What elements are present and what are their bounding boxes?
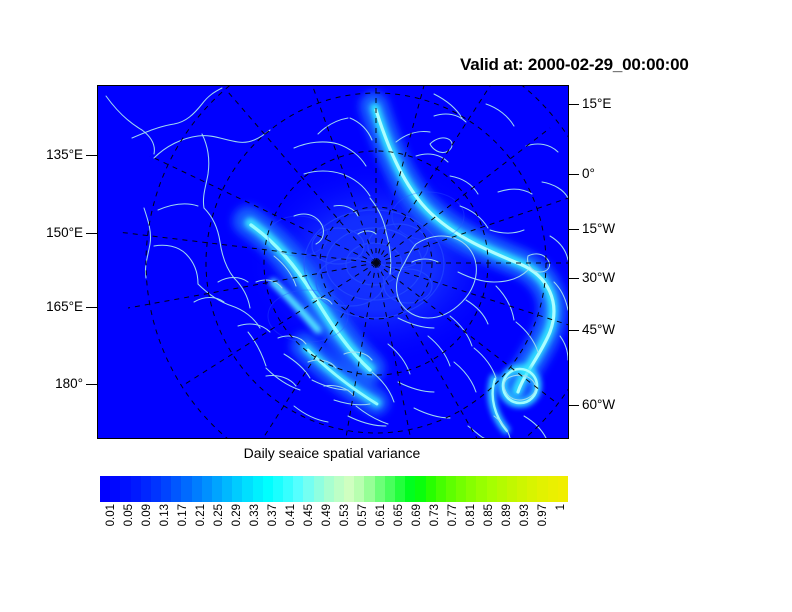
colorbar-swatch-27 <box>375 476 385 502</box>
figure-canvas: Valid at: 2000-02-29_00:00:00 <box>0 0 792 612</box>
colorbar-swatch-40 <box>507 476 517 502</box>
colorbar-swatch-17 <box>273 476 283 502</box>
axis-tick-left-4 <box>86 384 97 385</box>
colorbar-swatch-41 <box>517 476 527 502</box>
colorbar-swatch-22 <box>324 476 334 502</box>
colorbar-swatch-23 <box>334 476 344 502</box>
colorbar-tick-1: 0.05 <box>123 504 135 526</box>
axis-tick-right-6 <box>568 405 579 406</box>
colorbar-tick-8: 0.33 <box>249 504 261 526</box>
colorbar-tick-5: 0.21 <box>195 504 207 526</box>
colorbar-tick-18: 0.73 <box>429 504 441 526</box>
axis-tick-right-1 <box>568 104 579 105</box>
page-title: Valid at: 2000-02-29_00:00:00 <box>460 55 760 75</box>
axis-label-right-0: 0° <box>582 166 595 181</box>
axis-tick-left-2 <box>86 233 97 234</box>
colorbar-swatch-43 <box>537 476 547 502</box>
colorbar-tick-22: 0.89 <box>501 504 513 526</box>
colorbar-tick-labels: 0.010.050.090.130.170.210.250.290.330.37… <box>100 504 568 564</box>
colorbar-tick-3: 0.13 <box>159 504 171 526</box>
colorbar-swatch-19 <box>293 476 303 502</box>
colorbar-swatch-9 <box>192 476 202 502</box>
colorbar-swatch-39 <box>497 476 507 502</box>
colorbar-tick-0: 0.01 <box>105 504 117 526</box>
colorbar-strip <box>100 476 568 502</box>
colorbar-tick-4: 0.17 <box>177 504 189 526</box>
colorbar-swatch-6 <box>161 476 171 502</box>
colorbar-swatch-1 <box>110 476 120 502</box>
colorbar-swatch-12 <box>222 476 232 502</box>
colorbar-tick-20: 0.81 <box>465 504 477 526</box>
polar-map-svg <box>98 86 568 438</box>
colorbar-swatch-44 <box>548 476 558 502</box>
axis-label-left-165e: 165°E <box>46 299 83 314</box>
colorbar-swatch-25 <box>354 476 364 502</box>
colorbar-tick-21: 0.85 <box>483 504 495 526</box>
colorbar-swatch-14 <box>242 476 252 502</box>
colorbar-tick-6: 0.25 <box>213 504 225 526</box>
axis-tick-right-3 <box>568 229 579 230</box>
colorbar-swatch-28 <box>385 476 395 502</box>
axis-tick-right-2 <box>568 174 579 175</box>
colorbar-swatch-11 <box>212 476 222 502</box>
axis-label-right-30w: 30°W <box>582 270 615 285</box>
colorbar-swatch-5 <box>151 476 161 502</box>
colorbar-tick-2: 0.09 <box>141 504 153 526</box>
axis-label-left-135e: 135°E <box>46 147 83 162</box>
colorbar-swatch-16 <box>263 476 273 502</box>
colorbar-swatch-21 <box>314 476 324 502</box>
colorbar-tick-13: 0.53 <box>339 504 351 526</box>
axis-label-left-180: 180° <box>55 376 83 391</box>
colorbar-tick-19: 0.77 <box>447 504 459 526</box>
colorbar-tick-23: 0.93 <box>519 504 531 526</box>
colorbar-swatch-34 <box>446 476 456 502</box>
colorbar-swatch-7 <box>171 476 181 502</box>
axis-tick-left-1 <box>86 155 97 156</box>
colorbar-swatch-32 <box>426 476 436 502</box>
colorbar-swatch-0 <box>100 476 110 502</box>
colorbar-tick-10: 0.41 <box>285 504 297 526</box>
colorbar-tick-12: 0.49 <box>321 504 333 526</box>
colorbar-swatch-36 <box>466 476 476 502</box>
map-plot-area <box>97 85 569 439</box>
colorbar-swatch-38 <box>487 476 497 502</box>
colorbar-tick-25: 1 <box>555 504 567 510</box>
axis-label-right-45w: 45°W <box>582 322 615 337</box>
plot-caption: Daily seaice spatial variance <box>97 445 567 461</box>
axis-label-right-60w: 60°W <box>582 397 615 412</box>
colorbar-tick-24: 0.97 <box>537 504 549 526</box>
colorbar-tick-15: 0.61 <box>375 504 387 526</box>
colorbar-tick-17: 0.69 <box>411 504 423 526</box>
colorbar-swatch-30 <box>405 476 415 502</box>
colorbar-swatch-15 <box>253 476 263 502</box>
colorbar-tick-11: 0.45 <box>303 504 315 526</box>
colorbar-swatch-45 <box>558 476 568 502</box>
colorbar-swatch-8 <box>181 476 191 502</box>
axis-label-right-15w: 15°W <box>582 221 615 236</box>
axis-tick-left-3 <box>86 307 97 308</box>
colorbar-swatch-29 <box>395 476 405 502</box>
axis-label-left-150e: 150°E <box>46 225 83 240</box>
colorbar-tick-14: 0.57 <box>357 504 369 526</box>
colorbar-tick-9: 0.37 <box>267 504 279 526</box>
colorbar-swatch-2 <box>120 476 130 502</box>
colorbar-swatch-24 <box>344 476 354 502</box>
colorbar-swatch-42 <box>527 476 537 502</box>
colorbar-swatch-37 <box>476 476 486 502</box>
colorbar-swatch-20 <box>303 476 313 502</box>
colorbar-tick-16: 0.65 <box>393 504 405 526</box>
colorbar-swatch-35 <box>456 476 466 502</box>
colorbar-swatch-3 <box>131 476 141 502</box>
colorbar-swatch-31 <box>415 476 425 502</box>
colorbar-tick-7: 0.29 <box>231 504 243 526</box>
colorbar-swatch-10 <box>202 476 212 502</box>
colorbar-swatch-13 <box>232 476 242 502</box>
axis-tick-right-5 <box>568 330 579 331</box>
colorbar-swatch-33 <box>436 476 446 502</box>
colorbar-swatch-4 <box>141 476 151 502</box>
colorbar-swatch-26 <box>364 476 374 502</box>
colorbar <box>100 476 568 502</box>
colorbar-swatch-18 <box>283 476 293 502</box>
axis-label-right-15e: 15°E <box>582 96 611 111</box>
axis-tick-right-4 <box>568 278 579 279</box>
